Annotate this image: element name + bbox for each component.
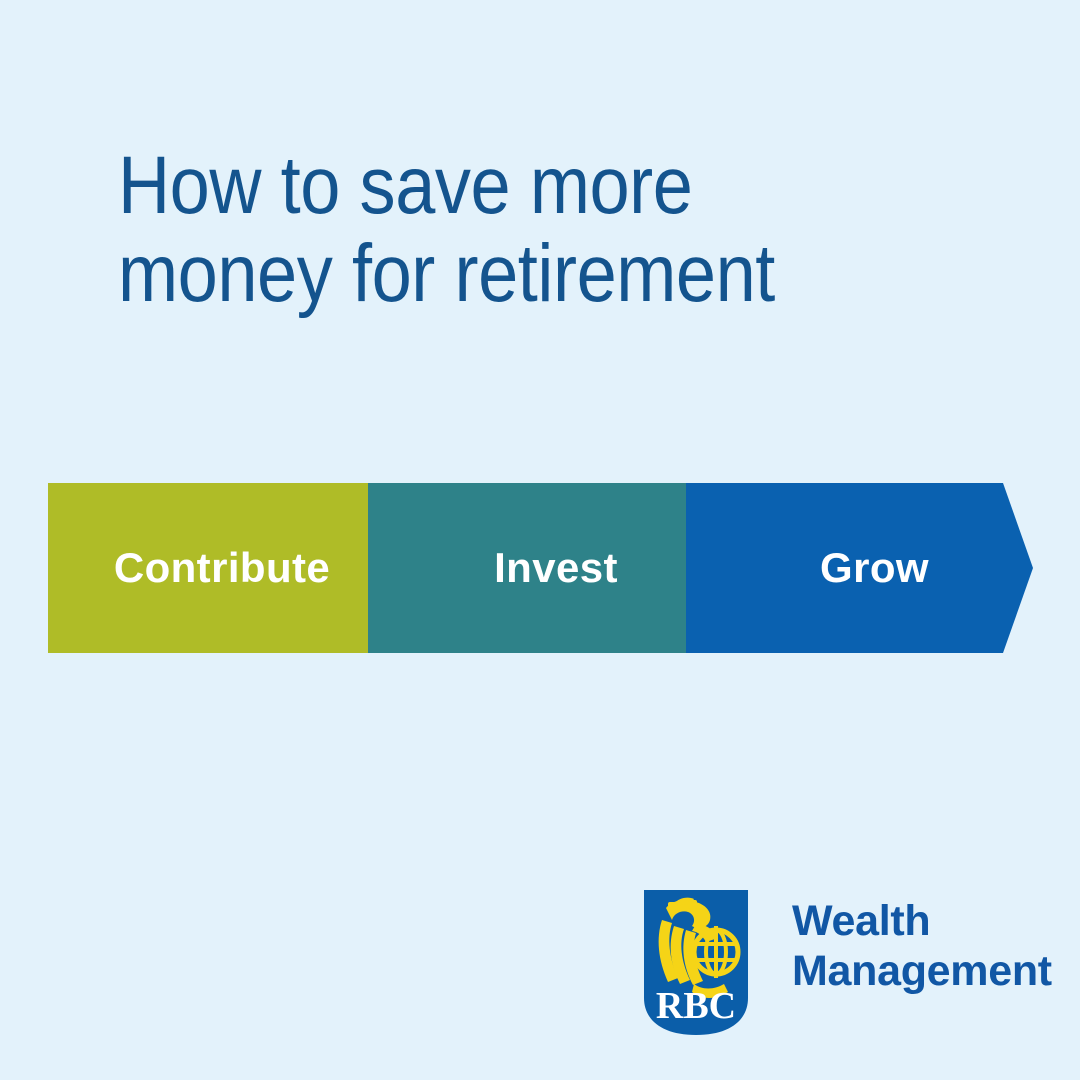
page-title: How to save more money for retirement <box>118 142 910 318</box>
rbc-monogram-text: RBC <box>656 985 736 1027</box>
process-banner: Contribute Invest Grow <box>48 483 1033 653</box>
rbc-wealth-management-logo: RBC Wealth Management <box>644 890 1036 1038</box>
wealth-management-wordmark: Wealth Management <box>792 896 1052 996</box>
process-step-shape-grow <box>686 483 1033 653</box>
rbc-shield-icon: RBC <box>644 890 748 1035</box>
process-step-shape-invest <box>368 483 714 653</box>
process-step-shape-contribute <box>48 483 396 653</box>
poster-canvas: How to save more money for retirement Co… <box>0 0 1080 1080</box>
